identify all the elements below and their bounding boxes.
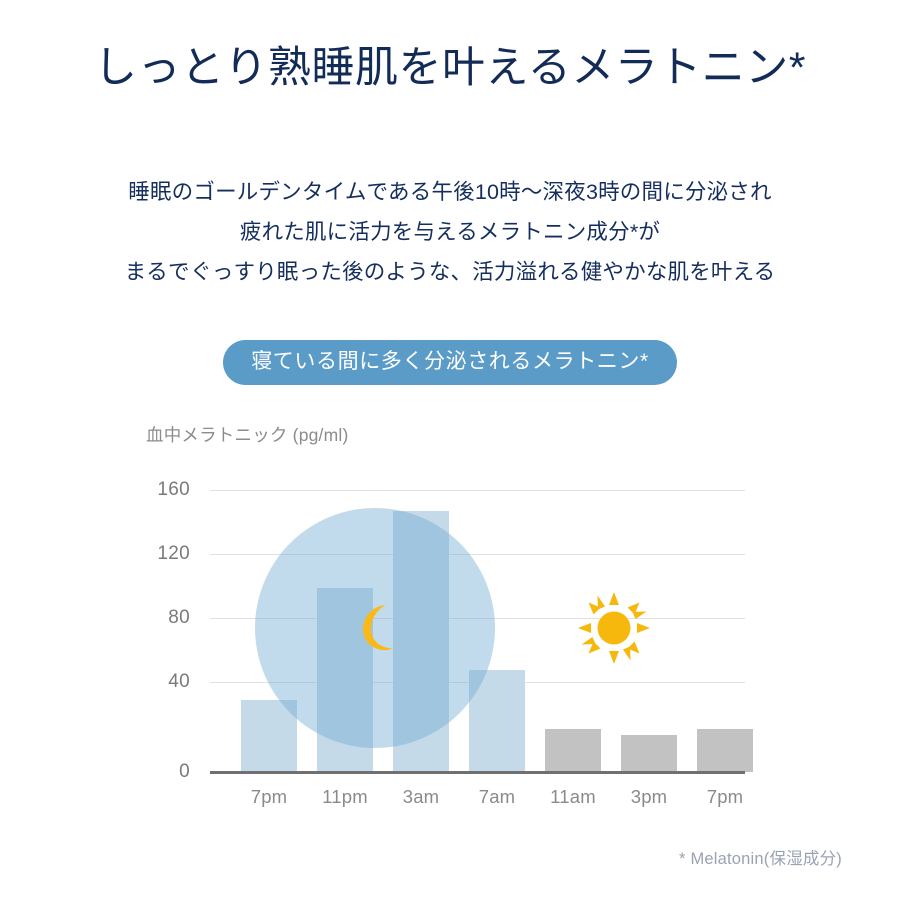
gridline-40 — [210, 682, 745, 683]
x-tick-label-5: 3pm — [604, 786, 694, 808]
bar-3am — [393, 511, 449, 772]
x-axis-line — [210, 771, 745, 774]
plot-area — [210, 484, 745, 772]
melatonin-bar-chart: 血中メラトニック (pg/ml) — [0, 0, 900, 900]
gridline-80 — [210, 618, 745, 619]
y-tick-label-0: 0 — [130, 761, 190, 783]
x-tick-label-2: 3am — [376, 786, 466, 808]
y-axis-title: 血中メラトニック (pg/ml) — [146, 422, 349, 447]
chart-title-badge: 寝ている間に多く分泌されるメラトニン* — [223, 340, 677, 385]
lead-line-1: 睡眠のゴールデンタイムである午後10時〜深夜3時の間に分泌され — [0, 172, 900, 212]
page-title: しっとり熟睡肌を叶えるメラトニン* — [0, 44, 900, 93]
bar-7pm — [241, 700, 297, 772]
lead-paragraph: 睡眠のゴールデンタイムである午後10時〜深夜3時の間に分泌され 疲れた肌に活力を… — [0, 172, 900, 292]
bar-7pm-2 — [697, 729, 753, 772]
y-tick-label-160: 160 — [130, 479, 190, 501]
x-tick-label-3: 7am — [452, 786, 542, 808]
bar-7am — [469, 670, 525, 772]
x-tick-label-4: 11am — [528, 786, 618, 808]
y-tick-label-40: 40 — [130, 671, 190, 693]
y-tick-label-120: 120 — [130, 543, 190, 565]
gridline-120 — [210, 554, 745, 555]
crescent-moon-icon — [349, 600, 405, 660]
footnote: * Melatonin(保湿成分) — [0, 845, 900, 869]
bar-11am — [545, 729, 601, 772]
lead-line-2: 疲れた肌に活力を与えるメラトニン成分*が — [0, 212, 900, 252]
night-period-highlight-circle — [255, 508, 495, 748]
x-tick-label-0: 7pm — [224, 786, 314, 808]
gridline-160 — [210, 490, 745, 491]
y-tick-label-80: 80 — [130, 607, 190, 629]
bar-3pm — [621, 735, 677, 772]
chart-title-badge-container: 寝ている間に多く分泌されるメラトニン* — [0, 340, 900, 385]
bar-11pm — [317, 588, 373, 772]
x-tick-label-6: 7pm — [680, 786, 770, 808]
melatonin-infographic: しっとり熟睡肌を叶えるメラトニン* 睡眠のゴールデンタイムである午後10時〜深夜… — [0, 0, 900, 900]
lead-line-3: まるでぐっすり眠った後のような、活力溢れる健やかな肌を叶える — [0, 252, 900, 292]
x-tick-label-1: 11pm — [300, 786, 390, 808]
sun-icon — [578, 592, 650, 664]
